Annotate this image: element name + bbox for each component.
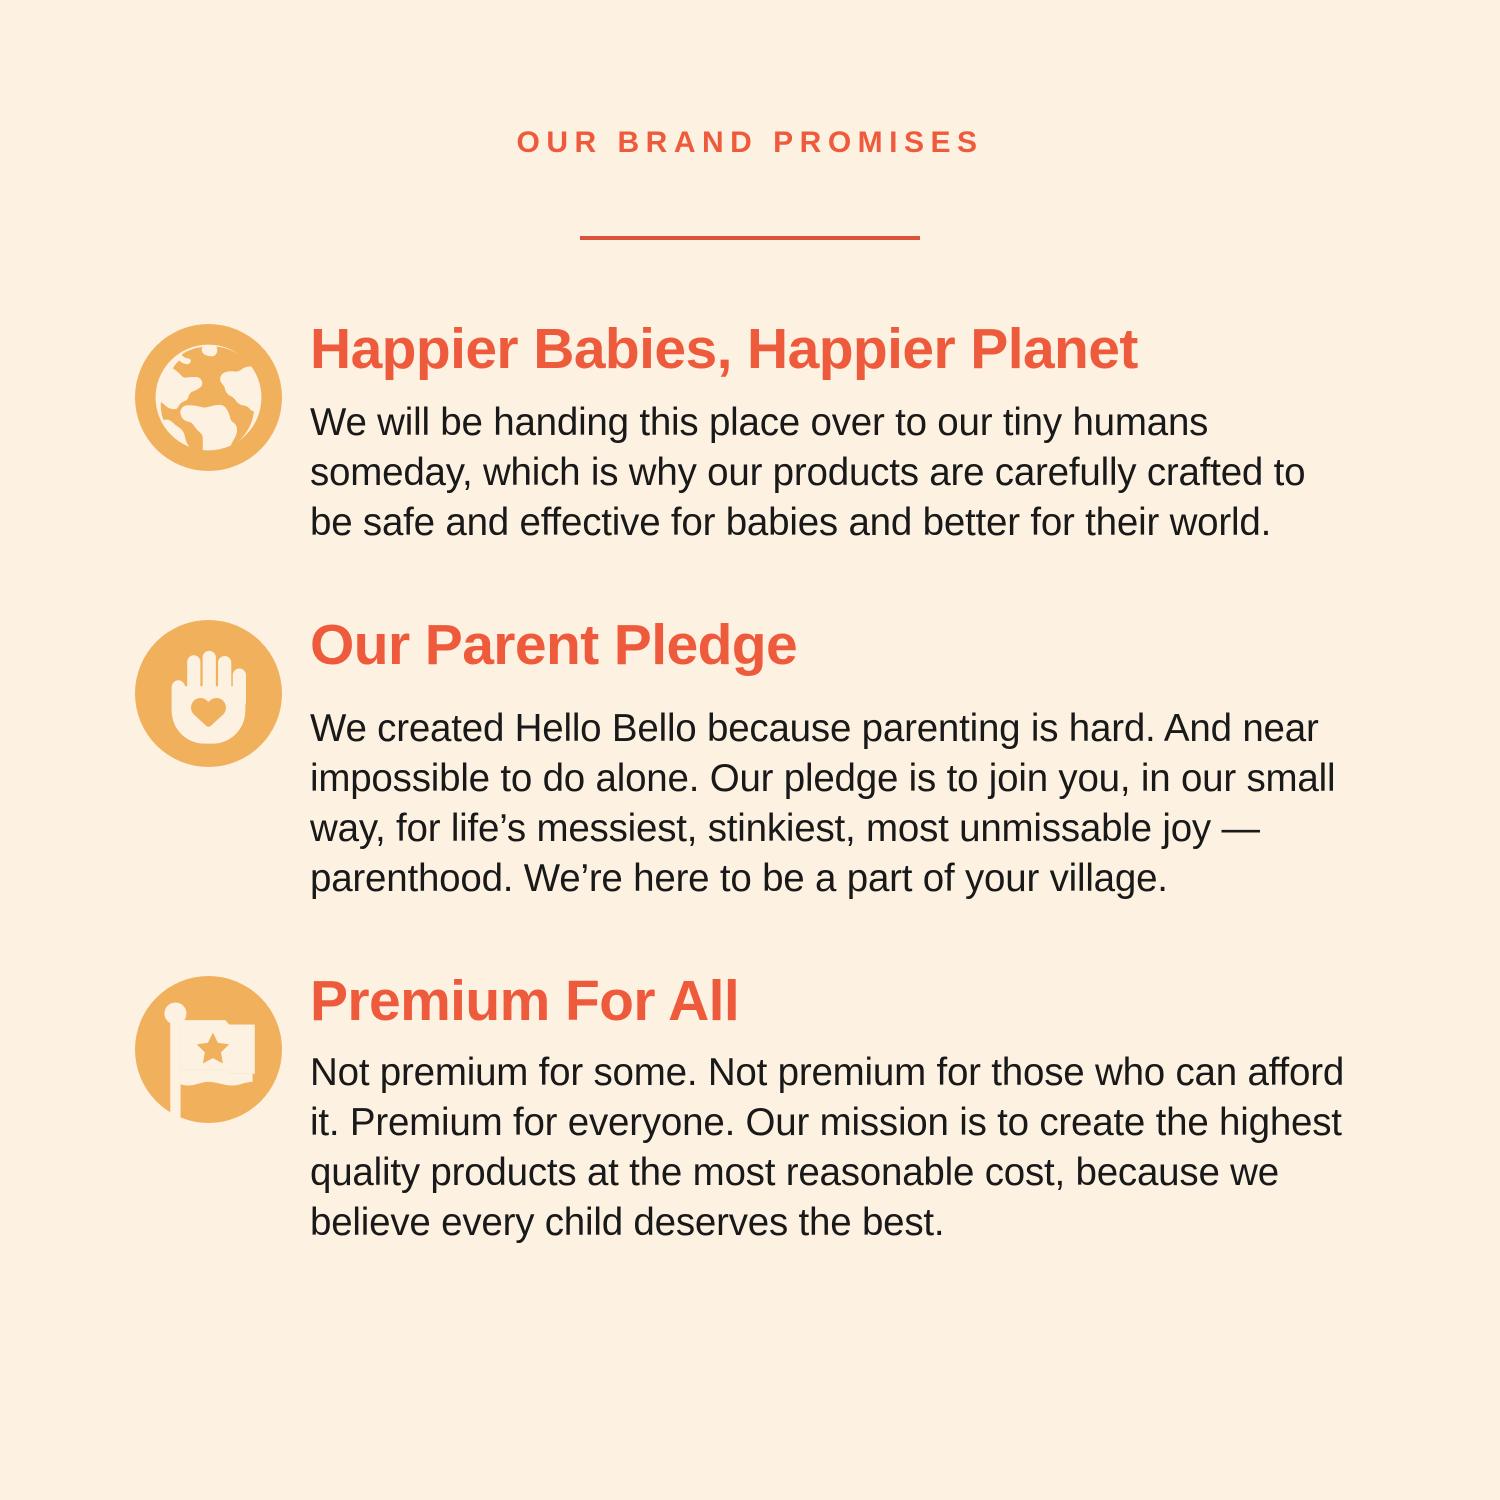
promise-item-premium: Premium For All Not premium for some. No… xyxy=(0,970,1500,1248)
globe-icon xyxy=(135,324,282,471)
promise-list: Happier Babies, Happier Planet We will b… xyxy=(0,318,1500,1248)
hand-heart-icon xyxy=(135,620,282,767)
header-divider xyxy=(0,236,1500,254)
divider-line xyxy=(580,236,920,240)
promise-title: Happier Babies, Happier Planet xyxy=(310,318,1420,382)
promise-body: Not premium for some. Not premium for th… xyxy=(310,1048,1382,1248)
brand-promises-page: OUR BRAND PROMISES Happier Babies, Happi… xyxy=(0,0,1500,1500)
promise-title: Premium For All xyxy=(310,970,1420,1034)
page-title: OUR BRAND PROMISES xyxy=(516,128,983,158)
promise-item-pledge: Our Parent Pledge We created Hello Bello… xyxy=(0,614,1500,904)
promise-body: We created Hello Bello because parenting… xyxy=(310,704,1395,904)
flag-star-icon xyxy=(135,976,282,1123)
promise-body: We will be handing this place over to ou… xyxy=(310,398,1320,548)
promise-title: Our Parent Pledge xyxy=(310,614,1420,678)
page-header: OUR BRAND PROMISES xyxy=(0,128,1500,158)
promise-item-planet: Happier Babies, Happier Planet We will b… xyxy=(0,318,1500,548)
